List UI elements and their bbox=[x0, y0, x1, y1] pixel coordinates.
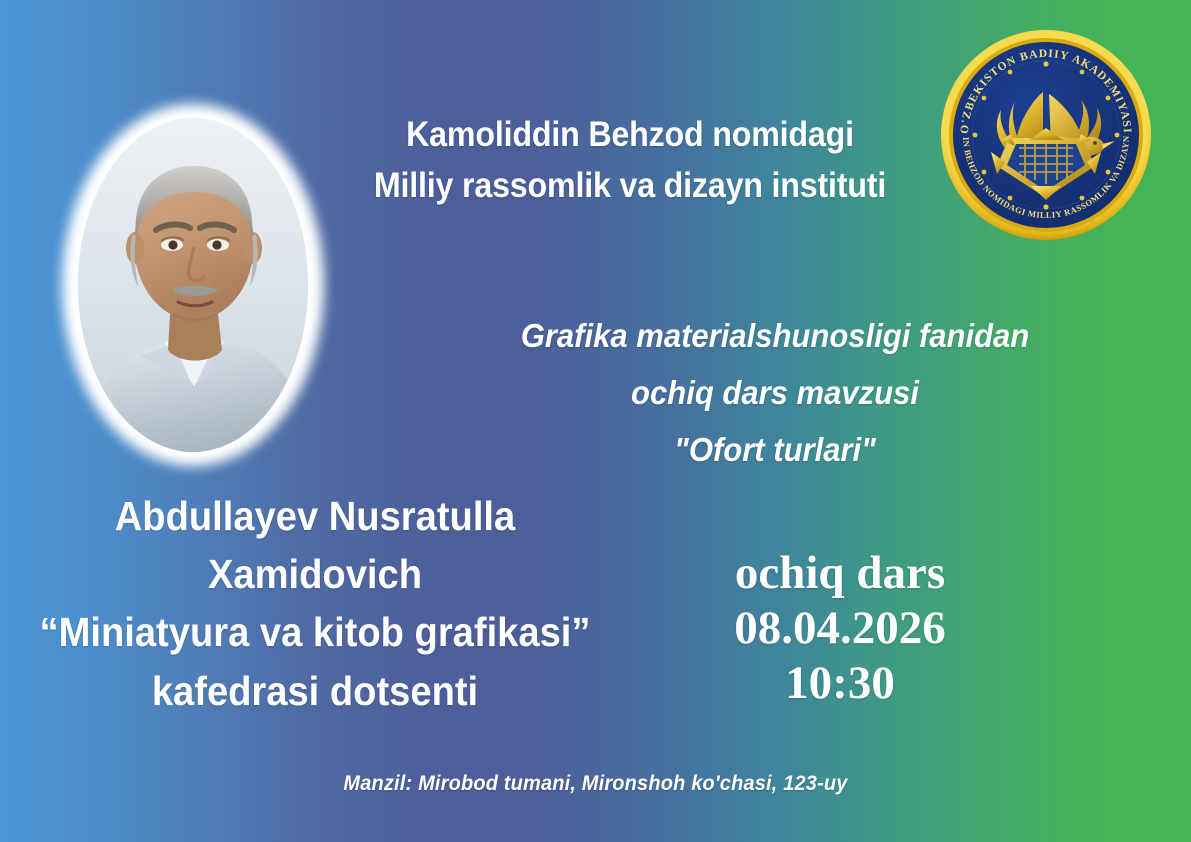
presenter-details: Abdullayev Nusratulla Xamidovich “Miniat… bbox=[22, 487, 608, 720]
institute-title: Kamoliddin Behzod nomidagi Milliy rassom… bbox=[326, 110, 933, 212]
institute-title-line1: Kamoliddin Behzod nomidagi bbox=[326, 110, 933, 161]
venue-address: Manzil: Mirobod tumani, Mironshoh ko'cha… bbox=[30, 772, 1161, 796]
institute-title-line2: Milliy rassomlik va dizayn instituti bbox=[326, 161, 933, 212]
event-time: 10:30 bbox=[640, 656, 1040, 711]
lesson-topic: Grafika materialshunosligi fanidan ochiq… bbox=[451, 308, 1100, 478]
presenter-portrait bbox=[62, 104, 324, 466]
presenter-position: kafedrasi dotsenti bbox=[22, 662, 608, 720]
event-schedule: ochiq dars 08.04.2026 10:30 bbox=[640, 546, 1040, 711]
presenter-name-line2: Xamidovich bbox=[22, 545, 608, 603]
topic-line1: Grafika materialshunosligi fanidan bbox=[451, 308, 1100, 365]
academy-emblem: O'ZBEKISTON BADIIY AKADEMIYASI KAMOLIDDI… bbox=[939, 28, 1153, 242]
event-label: ochiq dars bbox=[640, 546, 1040, 601]
portrait-oval-frame bbox=[78, 118, 308, 452]
academy-emblem-icon: O'ZBEKISTON BADIIY AKADEMIYASI KAMOLIDDI… bbox=[939, 28, 1153, 242]
event-date: 08.04.2026 bbox=[640, 601, 1040, 656]
poster-canvas: Kamoliddin Behzod nomidagi Milliy rassom… bbox=[0, 0, 1191, 842]
topic-line3: "Ofort turlari" bbox=[451, 422, 1100, 479]
presenter-name-line1: Abdullayev Nusratulla bbox=[22, 487, 608, 545]
topic-line2: ochiq dars mavzusi bbox=[451, 365, 1100, 422]
portrait-image bbox=[78, 118, 308, 452]
presenter-department: “Miniatyura va kitob grafikasi” bbox=[22, 603, 608, 661]
